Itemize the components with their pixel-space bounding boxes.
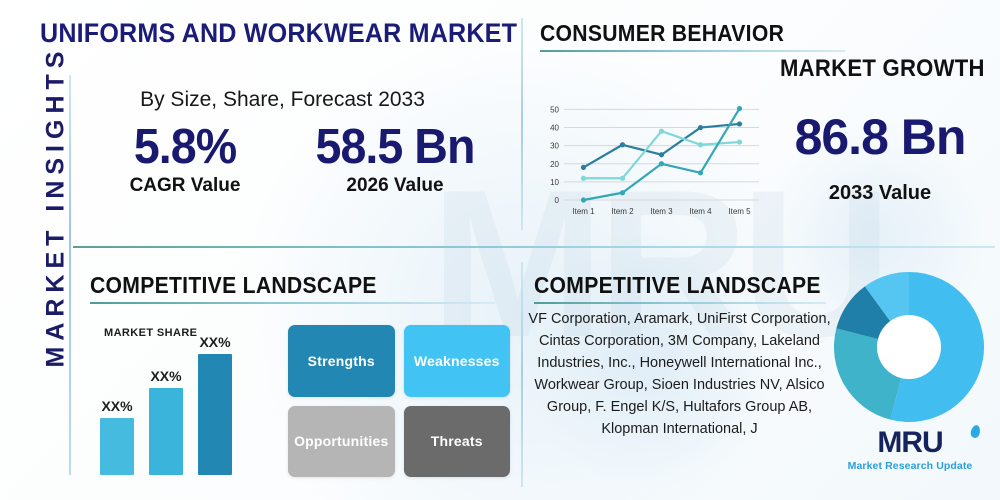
swot-strengths[interactable]: Strengths xyxy=(288,325,395,397)
kpi-2026-value: 58.5 Bn xyxy=(295,122,495,173)
kpi-2026: 58.5 Bn 2026 Value xyxy=(290,122,500,197)
bar-label-1: XX% xyxy=(94,398,140,414)
infographic-canvas: MRU MARKET INSIGHTS UNIFORMS AND WORKWEA… xyxy=(0,0,1000,500)
divider-vertical-bottom xyxy=(521,262,523,487)
section-heading-competitive-left: COMPETITIVE LANDSCAPE xyxy=(90,272,377,299)
page-subtitle: By Size, Share, Forecast 2033 xyxy=(95,88,470,112)
logo-mark-text: MRU xyxy=(877,428,942,458)
brand-logo: MRU Market Research Update xyxy=(845,428,975,472)
line-chart-svg: 01020304050Item 1Item 2Item 3Item 4Item … xyxy=(540,98,765,220)
market-growth-label: 2033 Value xyxy=(770,182,990,205)
consumer-behavior-line-chart: 01020304050Item 1Item 2Item 3Item 4Item … xyxy=(540,98,765,220)
company-list: VF Corporation, Aramark, UniFirst Corpor… xyxy=(527,308,832,440)
divider-horizontal xyxy=(73,246,995,248)
vertical-market-insights-label: MARKET INSIGHTS xyxy=(42,68,71,368)
kpi-cagr: 5.8% CAGR Value xyxy=(80,122,290,197)
svg-text:Item 2: Item 2 xyxy=(611,207,634,216)
section-heading-consumer-behavior: CONSUMER BEHAVIOR xyxy=(540,20,784,47)
svg-text:20: 20 xyxy=(550,160,559,169)
market-growth-value: 86.8 Bn xyxy=(770,108,990,166)
bar-2 xyxy=(149,388,183,475)
svg-text:50: 50 xyxy=(550,105,559,114)
page-title: UNIFORMS AND WORKWEAR MARKET xyxy=(40,18,477,49)
section-rule-competitive-right xyxy=(534,302,826,304)
swot-threats[interactable]: Threats xyxy=(404,406,511,478)
kpi-cagr-label: CAGR Value xyxy=(80,175,290,197)
market-split-donut-chart xyxy=(834,272,984,422)
svg-text:Item 5: Item 5 xyxy=(728,207,751,216)
bar-label-2: XX% xyxy=(143,368,189,384)
swot-matrix: Strengths Weaknesses Opportunities Threa… xyxy=(288,325,510,477)
svg-text:30: 30 xyxy=(550,142,559,151)
water-drop-icon xyxy=(970,424,982,439)
bar-label-3: XX% xyxy=(192,334,238,350)
logo-tagline: Market Research Update xyxy=(845,460,975,472)
svg-text:Item 4: Item 4 xyxy=(689,207,712,216)
market-growth-title: MARKET GROWTH xyxy=(780,55,985,83)
svg-text:40: 40 xyxy=(550,124,559,133)
svg-text:Item 3: Item 3 xyxy=(650,207,673,216)
kpi-2026-label: 2026 Value xyxy=(290,175,500,197)
donut-center-hole xyxy=(877,315,941,379)
svg-text:Item 1: Item 1 xyxy=(572,207,595,216)
section-rule-competitive-left xyxy=(90,302,495,304)
svg-text:10: 10 xyxy=(550,178,559,187)
swot-weaknesses[interactable]: Weaknesses xyxy=(404,325,511,397)
kpi-group: 5.8% CAGR Value 58.5 Bn 2026 Value xyxy=(80,122,500,197)
market-share-bar-chart: XX%XX%XX% xyxy=(100,335,260,475)
section-rule-consumer-behavior xyxy=(540,50,845,52)
bar-1 xyxy=(100,418,134,475)
divider-vertical-left xyxy=(69,75,71,475)
svg-text:0: 0 xyxy=(555,196,560,205)
divider-vertical-top xyxy=(521,18,523,230)
swot-opportunities[interactable]: Opportunities xyxy=(288,406,395,478)
kpi-cagr-value: 5.8% xyxy=(85,122,285,173)
section-heading-competitive-right: COMPETITIVE LANDSCAPE xyxy=(534,272,821,299)
bar-3 xyxy=(198,354,232,475)
